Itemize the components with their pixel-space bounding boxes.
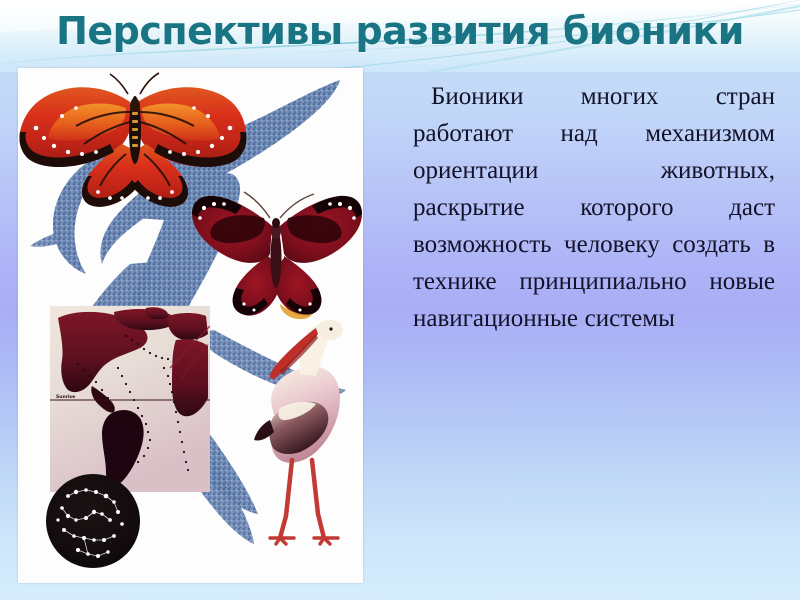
animal-collage-image: Sunrise xyxy=(18,68,363,583)
slide-title: Перспективы развития бионики xyxy=(0,8,800,54)
map-label: Sunrise xyxy=(56,394,75,400)
illustration-panel: Sunrise xyxy=(18,68,363,583)
slide: Перспективы развития бионики xyxy=(0,0,800,600)
body-paragraph: Бионики многих стран работают над механи… xyxy=(413,78,775,337)
world-map-icon: Sunrise xyxy=(50,306,210,492)
star-chart-icon xyxy=(46,474,140,568)
